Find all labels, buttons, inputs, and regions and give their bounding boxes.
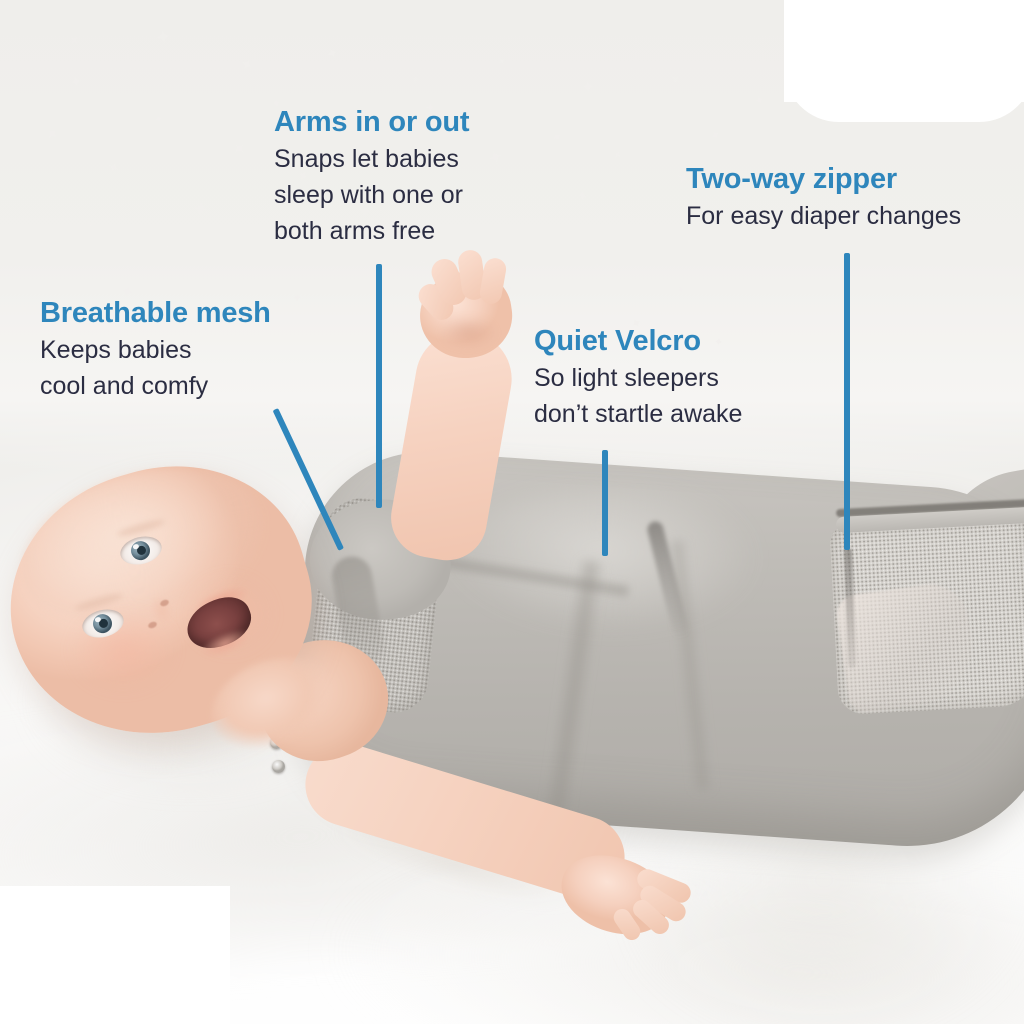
callout-description-line: So light sleepers [534,360,742,396]
leader-line-two-way-zipper [844,253,850,550]
callout-arms-in-or-out: Arms in or out Snaps let babies sleep wi… [274,106,469,249]
callout-description-line: For easy diaper changes [686,198,961,234]
callout-description-line: Keeps babies [40,332,271,368]
callout-description: Snaps let babies sleep with one or both … [274,141,469,249]
callout-description-line: Snaps let babies [274,141,469,177]
infographic-canvas: ✦✦✦✦✦✦✦✦✦✦✦✦✦✦✦✦✦✦✦✦✦✦✦✦✦✦✦✦✦✦✦✦✦✦✦✦✦✦✦✦… [0,0,1024,1024]
callout-description: Keeps babies cool and comfy [40,332,271,404]
callout-title: Two-way zipper [686,163,961,196]
cloud-decoration-bottom-left [0,886,230,1024]
cloud-decoration-top-right [784,0,1024,102]
callout-breathable-mesh: Breathable mesh Keeps babies cool and co… [40,297,271,404]
callout-two-way-zipper: Two-way zipper For easy diaper changes [686,163,961,234]
callout-description-line: don’t startle awake [534,396,742,432]
callout-description: So light sleepers don’t startle awake [534,360,742,432]
callout-title: Breathable mesh [40,297,271,330]
hand-shadow [430,318,506,354]
callout-quiet-velcro: Quiet Velcro So light sleepers don’t sta… [534,325,742,432]
callout-description-line: sleep with one or [274,177,469,213]
leader-line-quiet-velcro [602,450,608,556]
callout-title: Quiet Velcro [534,325,742,358]
callout-title: Arms in or out [274,106,469,139]
snap-button [272,760,285,773]
leader-line-arms-in-or-out [376,264,382,508]
callout-description: For easy diaper changes [686,198,961,234]
callout-description-line: both arms free [274,213,469,249]
product-photo: ✦✦✦✦✦✦✦✦✦✦✦✦✦✦✦✦✦✦✦✦✦✦✦✦✦✦✦✦✦✦✦✦✦✦✦✦✦✦✦✦… [0,0,1024,1024]
callout-description-line: cool and comfy [40,368,271,404]
